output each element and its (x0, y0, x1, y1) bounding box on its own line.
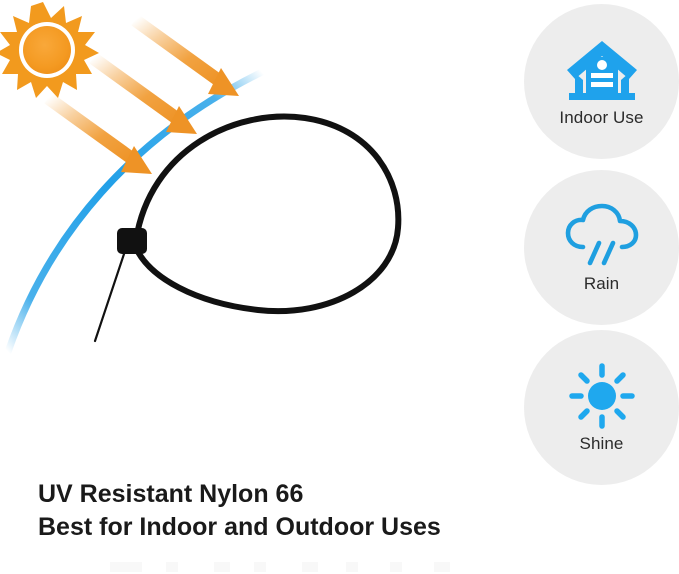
blue-arc-icon (8, 72, 262, 352)
sun-shine-icon (563, 363, 641, 429)
cable-tie-illustration (0, 0, 470, 470)
cropped-text-edge (110, 562, 510, 572)
badge-label: Indoor Use (559, 109, 643, 126)
badge-indoor-use[interactable]: Indoor Use (524, 4, 679, 159)
badge-label: Rain (584, 275, 619, 292)
badge-shine[interactable]: Shine (524, 330, 679, 485)
house-icon (563, 37, 641, 103)
badge-label: Shine (580, 435, 624, 452)
caption-line-1: UV Resistant Nylon 66 (38, 478, 508, 511)
badge-rain[interactable]: Rain (524, 170, 679, 325)
caption-line-2: Best for Indoor and Outdoor Uses (38, 511, 508, 544)
rain-cloud-icon (563, 203, 641, 269)
caption-block: UV Resistant Nylon 66 Best for Indoor an… (38, 478, 508, 544)
product-feature-image: Indoor Use Rain Shine UV (0, 0, 679, 574)
sun-icon (0, 2, 99, 98)
